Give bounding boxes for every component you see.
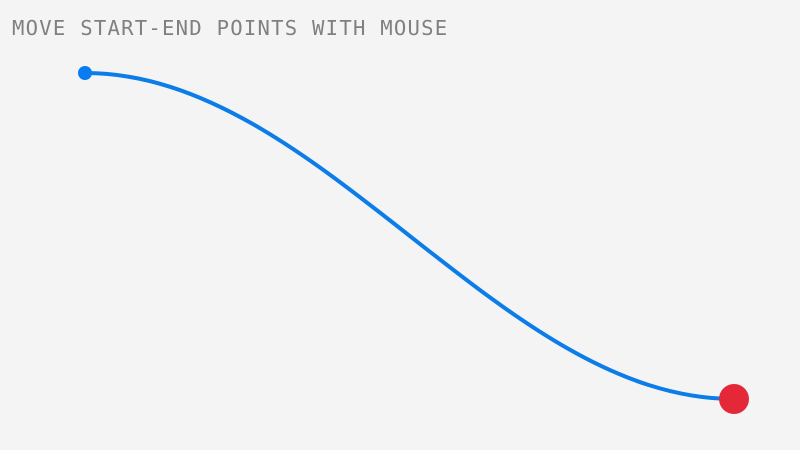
bezier-curve-path [85,73,734,399]
page-title: MOVE START-END POINTS WITH MOUSE [12,17,448,39]
canvas-stage[interactable]: MOVE START-END POINTS WITH MOUSE [0,0,800,450]
end-point-handle[interactable] [719,384,749,414]
curve-canvas[interactable] [0,0,800,450]
start-point-handle[interactable] [78,66,92,80]
